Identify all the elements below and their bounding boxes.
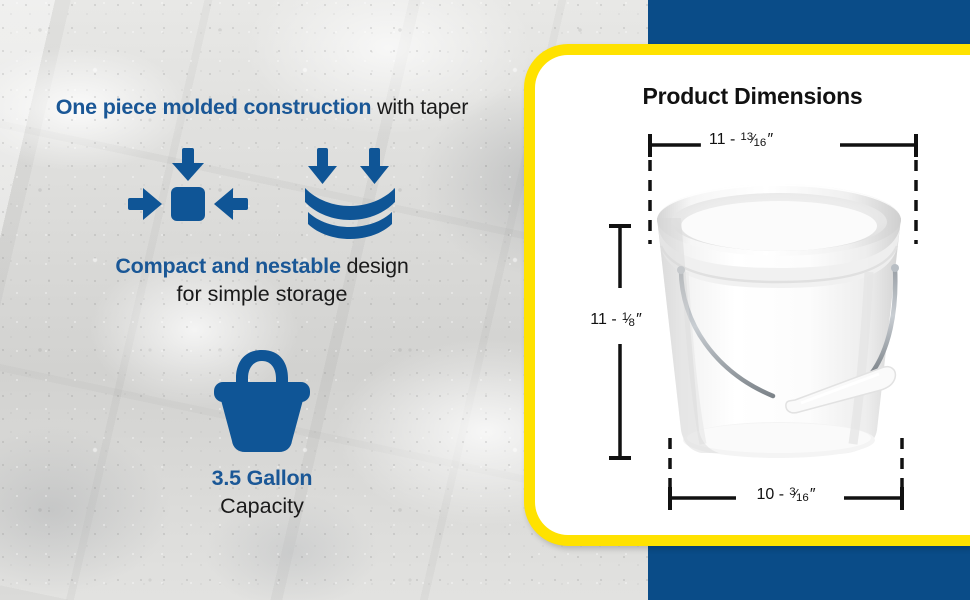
feature-one-piece-title: One piece molded construction with taper [0, 95, 524, 120]
bucket-icon [210, 348, 314, 459]
dim-bottom-denominator: 16 [796, 492, 809, 504]
dim-top-fraction: 13⁄16 [740, 131, 768, 146]
features-column: One piece molded construction with taper [0, 0, 524, 600]
dim-top-sep: - [730, 131, 735, 148]
infographic-canvas: One piece molded construction with taper [0, 0, 970, 600]
dim-left-whole: 11 [590, 311, 607, 328]
dim-top-numerator: 13 [740, 131, 753, 143]
feature-capacity-title-highlight: 3.5 Gallon [212, 466, 313, 490]
feature-compact-title-highlight: Compact and nestable [115, 254, 340, 278]
dim-left-sep: - [611, 311, 616, 328]
dim-bottom-whole: 10 [756, 486, 774, 503]
dim-bottom-sep: - [779, 486, 784, 503]
compression-arrows-icon [126, 148, 250, 245]
dim-bottom-unit: ″ [810, 486, 816, 503]
dim-left-fraction: 1⁄8 [621, 311, 636, 326]
dim-left-denominator: 8 [629, 317, 635, 329]
feature-compact-title: Compact and nestable design [0, 254, 524, 279]
feature-compact-subtitle: for simple storage [0, 282, 524, 307]
feature-capacity-title: 3.5 Gallon [0, 466, 524, 491]
feature-capacity-subtitle: Capacity [0, 494, 524, 519]
feature-one-piece-title-rest: with taper [371, 95, 468, 119]
dim-left-unit: ″ [636, 311, 642, 328]
dimension-label-bottom-width: 10 - 3⁄16″ [748, 486, 823, 504]
dim-top-unit: ″ [767, 131, 773, 148]
nesting-stack-icon [302, 148, 398, 245]
dimension-label-height: 11 - 1⁄8″ [590, 307, 641, 333]
dim-top-denominator: 16 [754, 137, 767, 149]
feature-one-piece-icons [0, 148, 524, 245]
dimension-label-top-width: 11 - 13⁄16″ [701, 131, 781, 149]
feature-capacity-icons [0, 348, 524, 459]
dimension-annotations [524, 44, 970, 546]
feature-compact-title-rest: design [341, 254, 409, 278]
dim-top-whole: 11 [709, 131, 726, 148]
dim-bottom-fraction: 3⁄16 [789, 486, 810, 501]
feature-one-piece-title-highlight: One piece molded construction [56, 95, 372, 119]
